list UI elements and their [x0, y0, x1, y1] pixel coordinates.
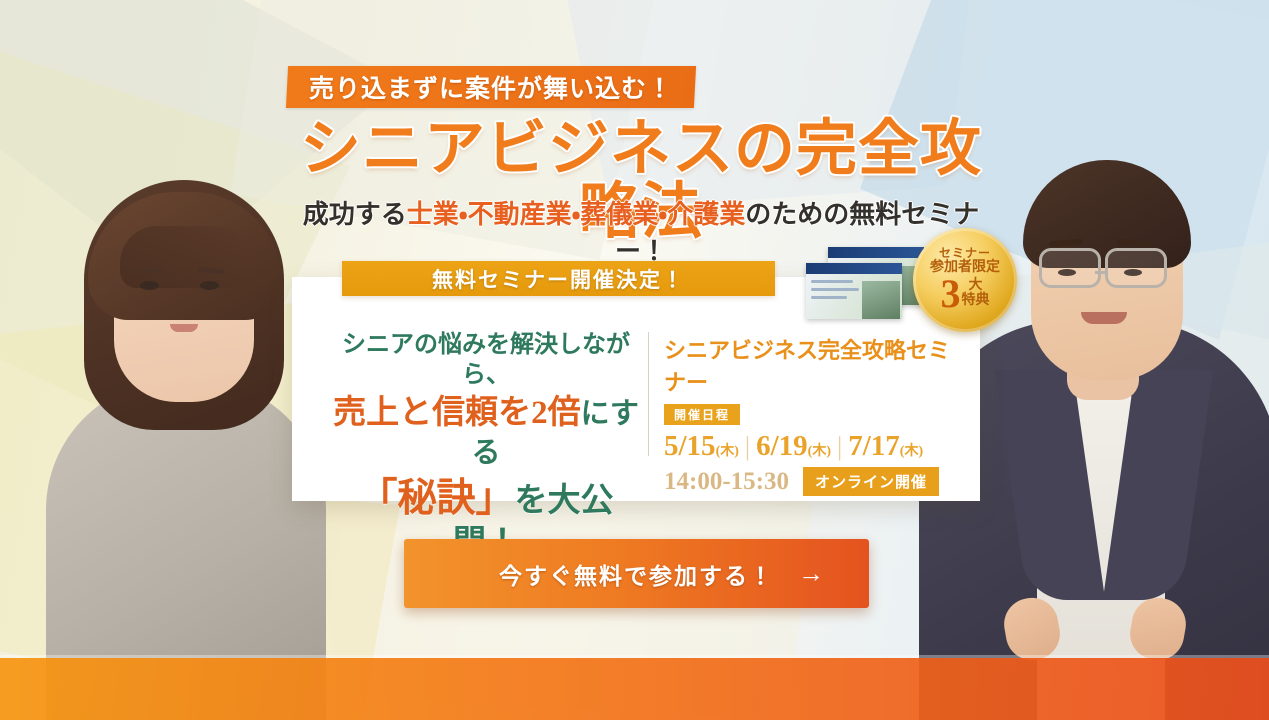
- card-copy-line-1: シニアの悩みを解決しながら、: [330, 330, 642, 390]
- material-thumbnails: [806, 247, 926, 319]
- bonus-seal-badge: セミナー 参加者限定 3 大 特典: [913, 228, 1017, 332]
- seal-suffix-bottom: 特典: [962, 294, 990, 308]
- subtitle-prefix: 成功する: [303, 200, 407, 229]
- date-dow: (木): [808, 444, 831, 459]
- date-dow: (木): [716, 444, 739, 459]
- eyebrow-text: 売り込まずに案件が舞い込む！: [309, 69, 673, 105]
- booklet-thumbnail: [806, 263, 902, 319]
- card-left-column: シニアの悩みを解決しながら、 売上と信頼を2倍にする 「秘訣」を大公開！: [330, 330, 642, 564]
- landing-page-hero: 売り込まずに案件が舞い込む！ シニアビジネスの完全攻略法 成功する士業・不動産業…: [0, 0, 1269, 720]
- time-row: 14:00-15:30 オンライン開催: [664, 467, 964, 496]
- format-badge: オンライン開催: [803, 467, 939, 496]
- date-item: 7/17(木): [848, 430, 923, 463]
- seal-number: 3: [941, 275, 961, 313]
- card-divider: [648, 332, 649, 456]
- card-right-column: シニアビジネス完全攻略セミナー 開催日程 5/15(木) | 6/19(木) |…: [664, 333, 964, 496]
- card-copy-line-3-highlight: 「秘訣」: [358, 477, 514, 520]
- register-cta-button[interactable]: 今すぐ無料で参加する！ →: [404, 539, 869, 608]
- date-item: 6/19(木): [756, 430, 831, 463]
- date-dow: (木): [900, 444, 923, 459]
- cta-label: 今すぐ無料で参加する！: [499, 557, 774, 591]
- card-copy-line-2: 売上と信頼を2倍にする: [330, 393, 642, 471]
- seminar-name: シニアビジネス完全攻略セミナー: [664, 333, 964, 397]
- card-banner: 無料セミナー開催決定！: [342, 261, 775, 296]
- arrow-right-icon: →: [798, 561, 824, 587]
- seminar-dates: 5/15(木) | 6/19(木) | 7/17(木): [664, 430, 964, 463]
- seal-line-1: セミナー: [939, 247, 991, 260]
- eyebrow-ribbon: 売り込まずに案件が舞い込む！: [286, 66, 696, 108]
- seminar-time: 14:00-15:30: [664, 468, 789, 496]
- seal-suffix-top: 大: [962, 279, 990, 293]
- date-item: 5/15(木): [664, 430, 739, 463]
- schedule-tag: 開催日程: [664, 404, 740, 425]
- bottom-orange-band: [0, 658, 1269, 720]
- date-separator: |: [745, 432, 750, 462]
- card-banner-text: 無料セミナー開催決定！: [432, 264, 685, 294]
- date-separator: |: [837, 432, 842, 462]
- card-copy-line-2-highlight: 売上と信頼を2倍: [333, 395, 581, 431]
- subtitle-target-industries: 士業・不動産業・葬儀業・介護業: [407, 200, 746, 229]
